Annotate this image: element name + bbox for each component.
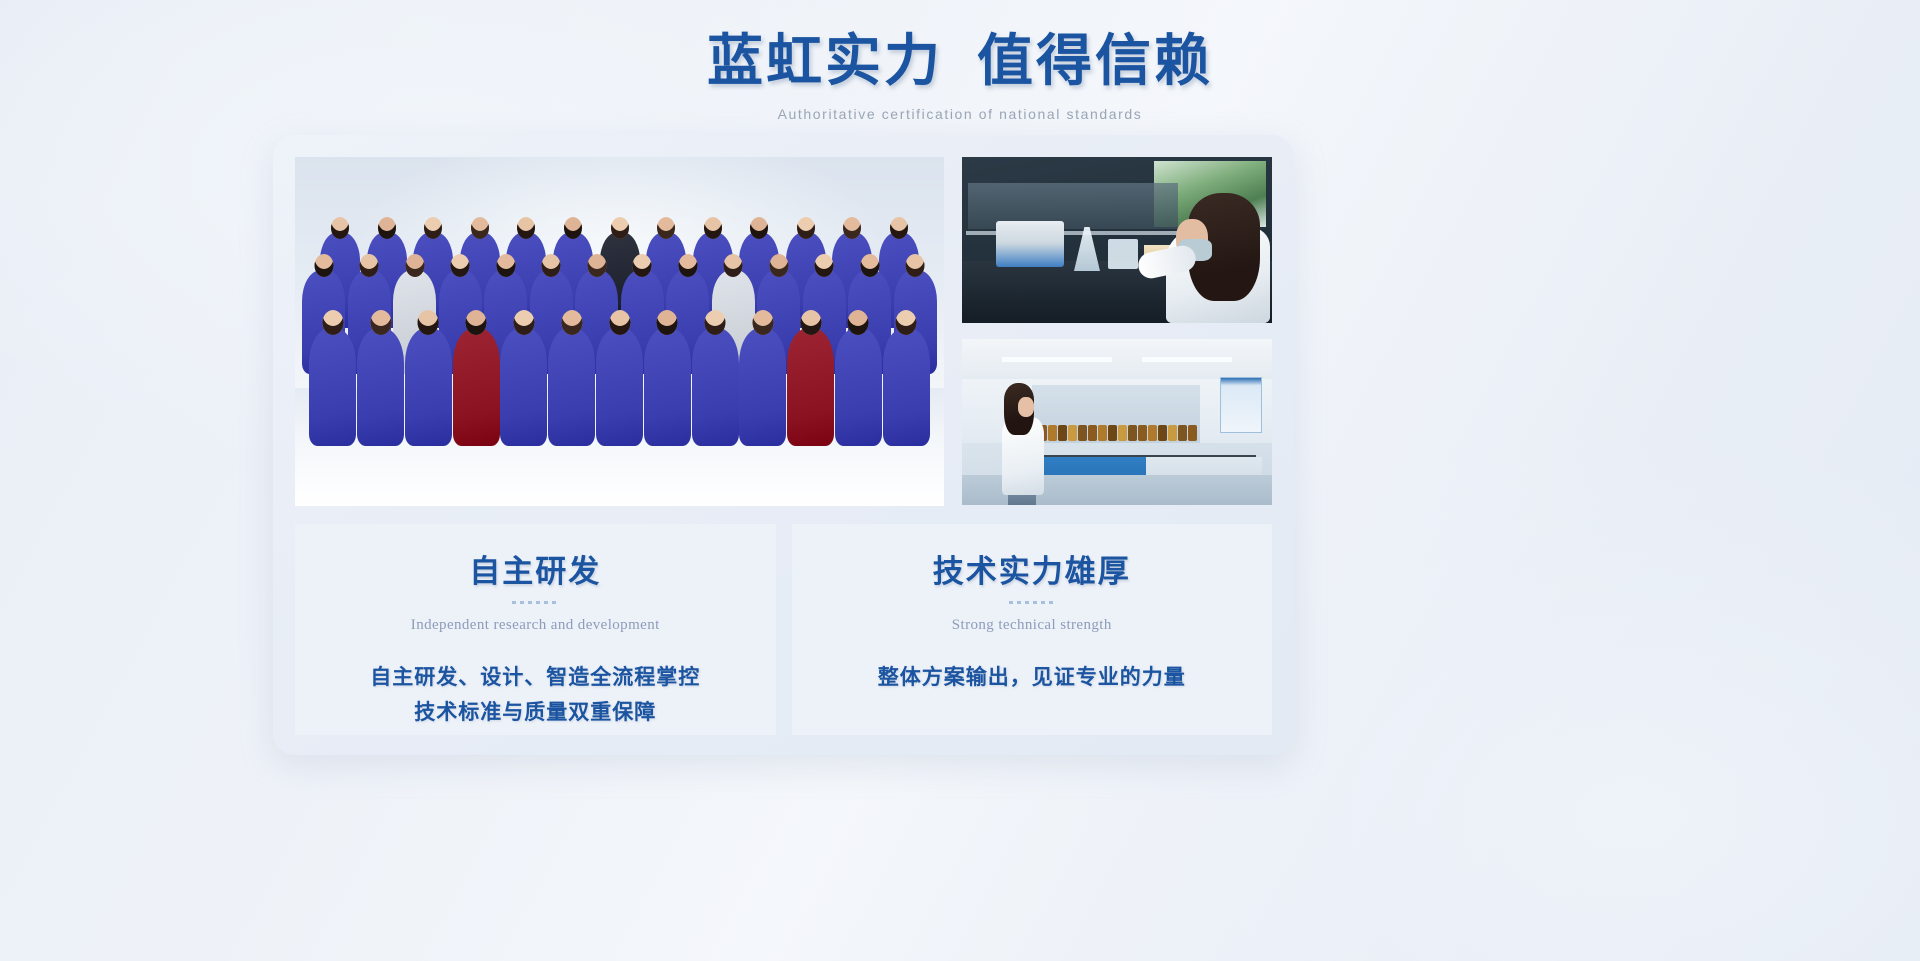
lab-technician	[1152, 191, 1270, 323]
lab-photo-column	[962, 157, 1272, 506]
reagent-bottle-icon	[1098, 425, 1107, 441]
person	[357, 328, 404, 446]
person	[883, 328, 930, 446]
reagent-bottle-icon	[1148, 425, 1157, 441]
person-head	[314, 254, 333, 277]
dotted-divider-icon	[512, 601, 558, 604]
card-body-line: 自主研发、设计、智造全流程掌控	[295, 660, 776, 695]
card-body: 自主研发、设计、智造全流程掌控 技术标准与质量双重保障	[295, 660, 776, 729]
reagent-bottle-icon	[1128, 425, 1137, 441]
photo-people-group	[295, 224, 944, 454]
person-head	[752, 310, 773, 335]
person-head	[496, 254, 515, 277]
person	[787, 328, 834, 446]
reagent-bottle-icon	[1108, 425, 1117, 441]
person-head	[466, 310, 487, 335]
person	[548, 328, 595, 446]
reagent-bottle-icon	[1178, 425, 1187, 441]
person	[835, 328, 882, 446]
person-head	[360, 254, 379, 277]
ceiling-light	[1002, 357, 1112, 362]
person-head	[564, 217, 582, 239]
reagent-bottle-icon	[1118, 425, 1127, 441]
lab-technician-standing	[996, 383, 1050, 495]
reagent-bottle-icon	[1068, 425, 1077, 441]
person-head	[405, 254, 424, 277]
safety-poster	[1220, 377, 1262, 433]
person-head	[513, 310, 534, 335]
person-head	[797, 217, 815, 239]
person	[309, 328, 356, 446]
person-head	[322, 310, 343, 335]
card-title: 自主研发	[295, 546, 776, 591]
person-head	[609, 310, 630, 335]
lab-photo-room	[962, 339, 1272, 505]
beaker-icon	[1108, 239, 1138, 269]
dotted-divider-icon	[1009, 601, 1055, 604]
reagent-bottle-icon	[1078, 425, 1087, 441]
person	[644, 328, 691, 446]
person-head	[633, 254, 652, 277]
team-group-photo	[295, 157, 944, 506]
person-head	[378, 217, 396, 239]
person-head	[704, 217, 722, 239]
person-head	[750, 217, 768, 239]
reagent-bottle-icon	[1168, 425, 1177, 441]
ceiling-light	[1142, 357, 1232, 362]
reagent-bottle-icon	[1158, 425, 1167, 441]
person-head	[769, 254, 788, 277]
person-head	[657, 217, 675, 239]
person-head	[860, 254, 879, 277]
page-title: 蓝虹实力 值得信赖	[0, 30, 1920, 94]
card-body-line: 整体方案输出，见证专业的力量	[792, 660, 1273, 695]
person	[739, 328, 786, 446]
person-head	[587, 254, 606, 277]
person-head	[331, 217, 349, 239]
technician-face	[1018, 397, 1034, 417]
person-head	[890, 217, 908, 239]
pipette-rack-icon	[996, 221, 1064, 267]
content-panel: 自主研发 Independent research and developmen…	[273, 135, 1294, 755]
person-head	[611, 217, 629, 239]
reagent-bottle-icon	[1088, 425, 1097, 441]
person	[692, 328, 739, 446]
reagent-bottle-icon	[1188, 425, 1197, 441]
lab-photo-pipetting	[962, 157, 1272, 323]
person	[405, 328, 452, 446]
person-head	[896, 310, 917, 335]
card-english-subtitle: Independent research and development	[295, 617, 776, 634]
person-head	[451, 254, 470, 277]
feature-card-independent-rd: 自主研发 Independent research and developmen…	[295, 524, 776, 735]
feature-card-technical-strength: 技术实力雄厚 Strong technical strength 整体方案输出，…	[792, 524, 1273, 735]
person-head	[906, 254, 925, 277]
reagent-bottle-icon	[1138, 425, 1147, 441]
person-head	[848, 310, 869, 335]
person-head	[815, 254, 834, 277]
person-head	[678, 254, 697, 277]
person-head	[561, 310, 582, 335]
media-gallery	[295, 157, 1272, 506]
person-head	[418, 310, 439, 335]
person-head	[424, 217, 442, 239]
person-head	[657, 310, 678, 335]
person-head	[800, 310, 821, 335]
person	[596, 328, 643, 446]
person	[453, 328, 500, 446]
person-head	[542, 254, 561, 277]
person-head	[370, 310, 391, 335]
reagent-bottle-icon	[1058, 425, 1067, 441]
person	[500, 328, 547, 446]
person-head	[843, 217, 861, 239]
card-title: 技术实力雄厚	[792, 546, 1273, 591]
reagent-shelf	[1032, 385, 1200, 443]
person-head	[724, 254, 743, 277]
page-header: 蓝虹实力 值得信赖 Authoritative certification of…	[0, 0, 1920, 122]
card-body: 整体方案输出，见证专业的力量	[792, 660, 1273, 695]
card-body-line: 技术标准与质量双重保障	[295, 695, 776, 730]
person-head	[471, 217, 489, 239]
person-head	[517, 217, 535, 239]
page-subtitle: Authoritative certification of national …	[0, 106, 1920, 122]
feature-card-list: 自主研发 Independent research and developmen…	[295, 524, 1272, 735]
card-english-subtitle: Strong technical strength	[792, 617, 1273, 634]
person-head	[705, 310, 726, 335]
